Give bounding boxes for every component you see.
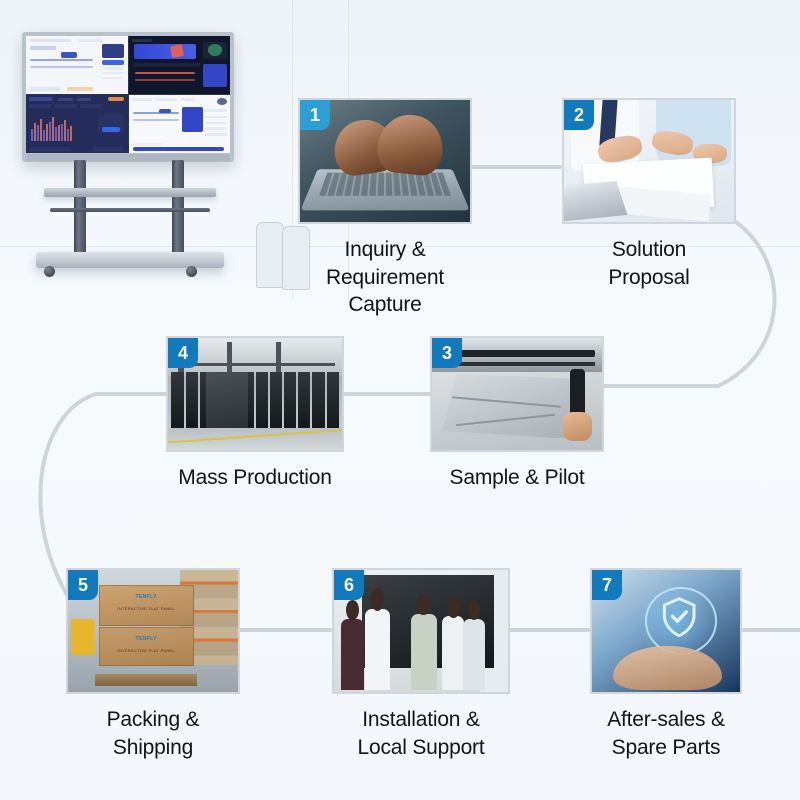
step-7-caption-line-2: Spare Parts — [590, 734, 742, 762]
installer-3 — [411, 614, 437, 690]
step-card-3[interactable]: 3 Sample & Pilot — [430, 336, 604, 492]
dashboard-quadrant-2 — [129, 36, 231, 94]
shield-check-icon — [657, 594, 701, 640]
step-4-caption-line-1: Mass Production — [166, 464, 344, 492]
process-flow-infographic: 1 Inquiry & Requirement Capture 2 Soluti… — [0, 0, 800, 800]
step-5-caption-line-2: Shipping — [66, 734, 240, 762]
step-1-image[interactable]: 1 — [298, 98, 472, 224]
step-7-caption-line-1: After-sales & — [590, 706, 742, 734]
step-card-6[interactable]: 6 Installation & Local Support — [332, 568, 510, 761]
step-card-5[interactable]: TENFLY INTERACTIVE FLAT PANEL TENFLY INT… — [66, 568, 240, 761]
step-1-caption-line-1: Inquiry & — [298, 236, 472, 264]
hero-product-image — [0, 0, 300, 300]
step-7-image[interactable]: 7 — [590, 568, 742, 694]
step-3-caption: Sample & Pilot — [430, 464, 604, 492]
step-5-caption-line-1: Packing & — [66, 706, 240, 734]
caster-wheel-left — [44, 266, 55, 277]
flat-panel-display — [22, 32, 234, 162]
stand-base-plate — [36, 252, 224, 268]
step-5-image[interactable]: TENFLY INTERACTIVE FLAT PANEL TENFLY INT… — [66, 568, 240, 694]
step-card-4[interactable]: 4 Mass Production — [166, 336, 344, 492]
step-5-badge: 5 — [68, 570, 98, 600]
carton-subtitle-bottom: INTERACTIVE FLAT PANEL — [99, 648, 194, 653]
stand-shelf — [44, 188, 216, 197]
step-2-caption: Solution Proposal — [562, 236, 736, 291]
installer-2 — [365, 609, 389, 690]
carton-brand-top: TENFLY — [99, 594, 194, 600]
step-5-caption: Packing & Shipping — [66, 706, 240, 761]
panel-screen — [26, 36, 230, 153]
step-3-caption-line-1: Sample & Pilot — [430, 464, 604, 492]
dashboard-quadrant-3 — [26, 95, 128, 153]
step-card-2[interactable]: 2 Solution Proposal — [562, 98, 736, 291]
step-6-image[interactable]: 6 — [332, 568, 510, 694]
step-4-image[interactable]: 4 — [166, 336, 344, 452]
step-6-caption-line-1: Installation & — [332, 706, 510, 734]
step-card-1[interactable]: 1 Inquiry & Requirement Capture — [298, 98, 472, 319]
step-6-badge: 6 — [334, 570, 364, 600]
step-3-image[interactable]: 3 — [430, 336, 604, 452]
step-2-caption-line-2: Proposal — [562, 264, 736, 292]
carton-subtitle-top: INTERACTIVE FLAT PANEL — [99, 606, 194, 611]
step-1-caption-line-2: Requirement Capture — [298, 264, 472, 319]
dashboard-quadrant-4 — [129, 95, 231, 153]
step-2-badge: 2 — [564, 100, 594, 130]
caster-wheel-right — [186, 266, 197, 277]
step-6-caption: Installation & Local Support — [332, 706, 510, 761]
dashboard-quadrant-1 — [26, 36, 128, 94]
step-1-badge: 1 — [300, 100, 330, 130]
step-4-badge: 4 — [168, 338, 198, 368]
panel-bezel-chin — [26, 154, 230, 161]
carton-brand-bottom: TENFLY — [99, 636, 194, 642]
chair-left — [256, 222, 284, 288]
step-7-caption: After-sales & Spare Parts — [590, 706, 742, 761]
step-3-badge: 3 — [432, 338, 462, 368]
stand-cross-bar — [50, 208, 210, 212]
installer-1 — [341, 619, 364, 690]
installer-5 — [463, 619, 486, 690]
step-6-caption-line-2: Local Support — [332, 734, 510, 762]
step-card-7[interactable]: 7 After-sales & Spare Parts — [590, 568, 742, 761]
step-7-badge: 7 — [592, 570, 622, 600]
installer-4 — [442, 616, 465, 689]
step-2-image[interactable]: 2 — [562, 98, 736, 224]
step-2-caption-line-1: Solution — [562, 236, 736, 264]
step-4-caption: Mass Production — [166, 464, 344, 492]
step-1-caption: Inquiry & Requirement Capture — [298, 236, 472, 319]
